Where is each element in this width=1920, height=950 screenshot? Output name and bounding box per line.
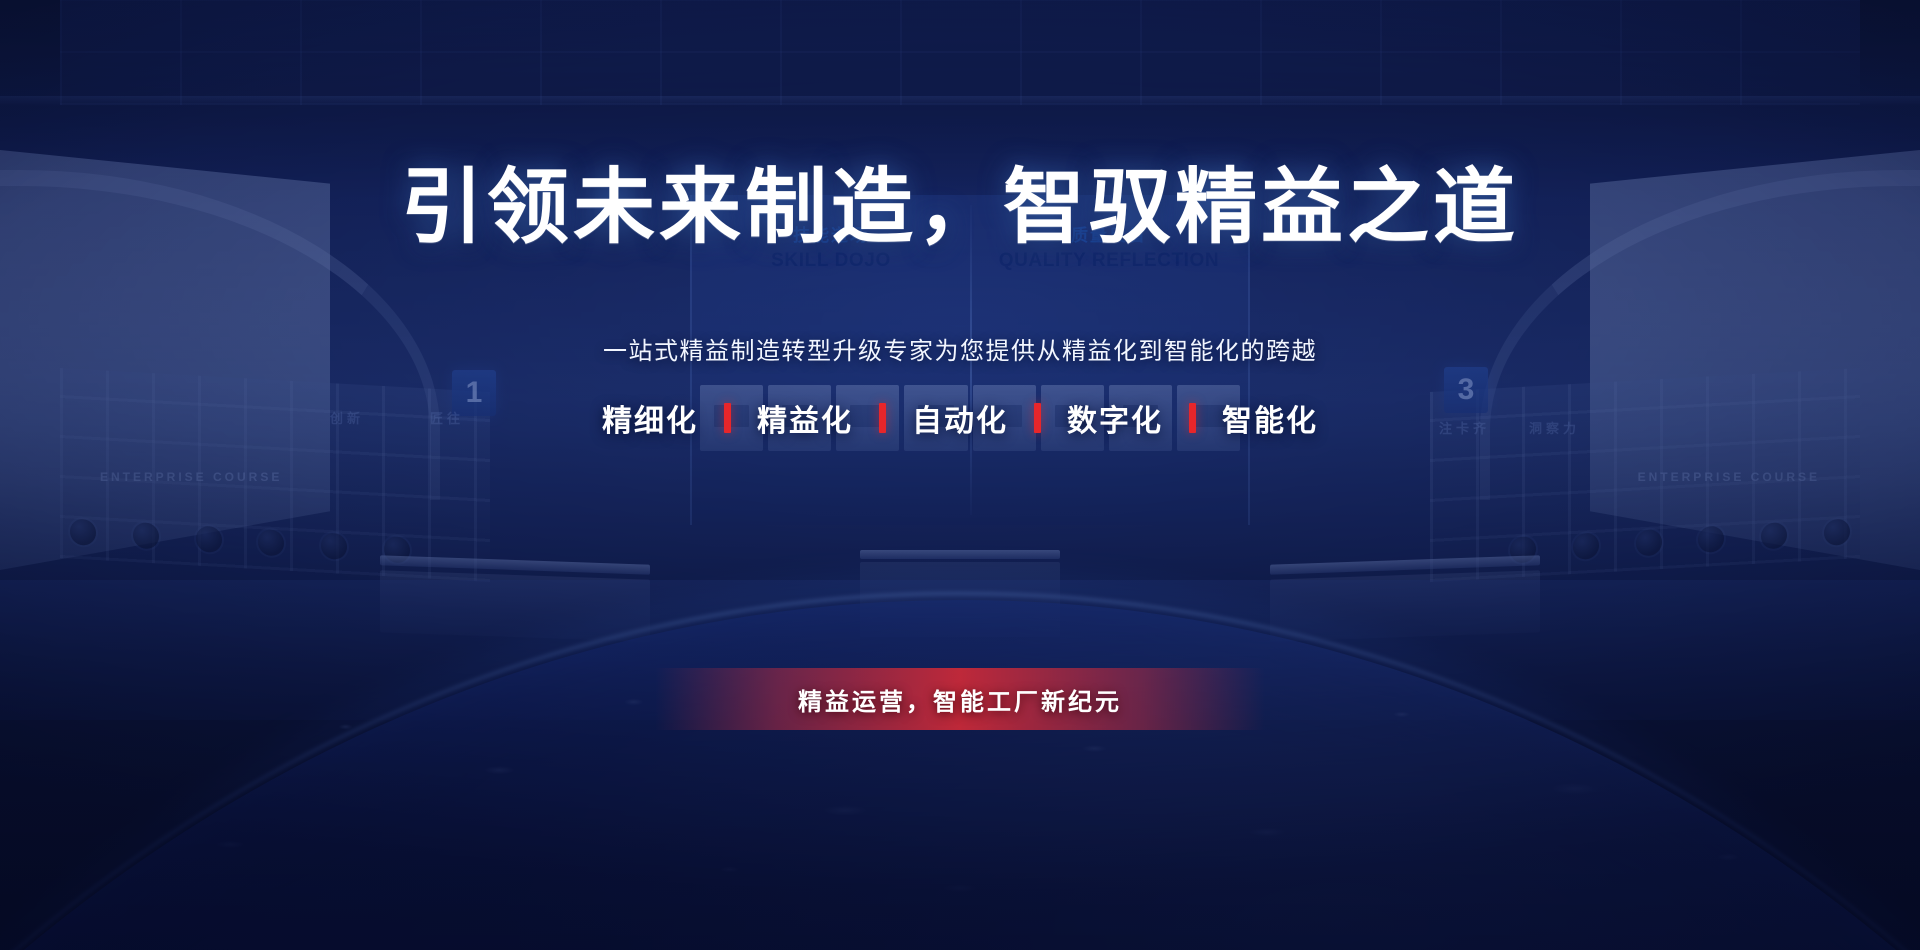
tagline-ribbon: 精益运营，智能工厂新纪元 bbox=[655, 668, 1265, 730]
tag-automation: 自动化 bbox=[886, 396, 1034, 440]
tag-intelligence: 智能化 bbox=[1196, 396, 1344, 440]
page-title: 引领未来制造，智驭精益之道 bbox=[401, 140, 1519, 259]
tag-digitalization: 数字化 bbox=[1041, 396, 1189, 440]
hero-content: 引领未来制造，智驭精益之道 一站式精益制造转型升级专家为您提供从精益化到智能化的… bbox=[0, 0, 1920, 950]
capability-tag-list: 精细化 精益化 自动化 数字化 智能化 bbox=[576, 396, 1344, 440]
tag-separator-icon bbox=[1189, 403, 1196, 433]
tagline-text: 精益运营，智能工厂新纪元 bbox=[798, 682, 1122, 717]
tag-separator-icon bbox=[724, 403, 731, 433]
tag-refinement: 精细化 bbox=[576, 396, 724, 440]
hero-banner: 技能道场 SKILL DOJO 质量反省 QUALITY REFLECTION … bbox=[0, 0, 1920, 950]
tag-separator-icon bbox=[1034, 403, 1041, 433]
hero-subtitle: 一站式精益制造转型升级专家为您提供从精益化到智能化的跨越 bbox=[603, 331, 1317, 366]
tag-lean: 精益化 bbox=[731, 396, 879, 440]
tag-separator-icon bbox=[879, 403, 886, 433]
